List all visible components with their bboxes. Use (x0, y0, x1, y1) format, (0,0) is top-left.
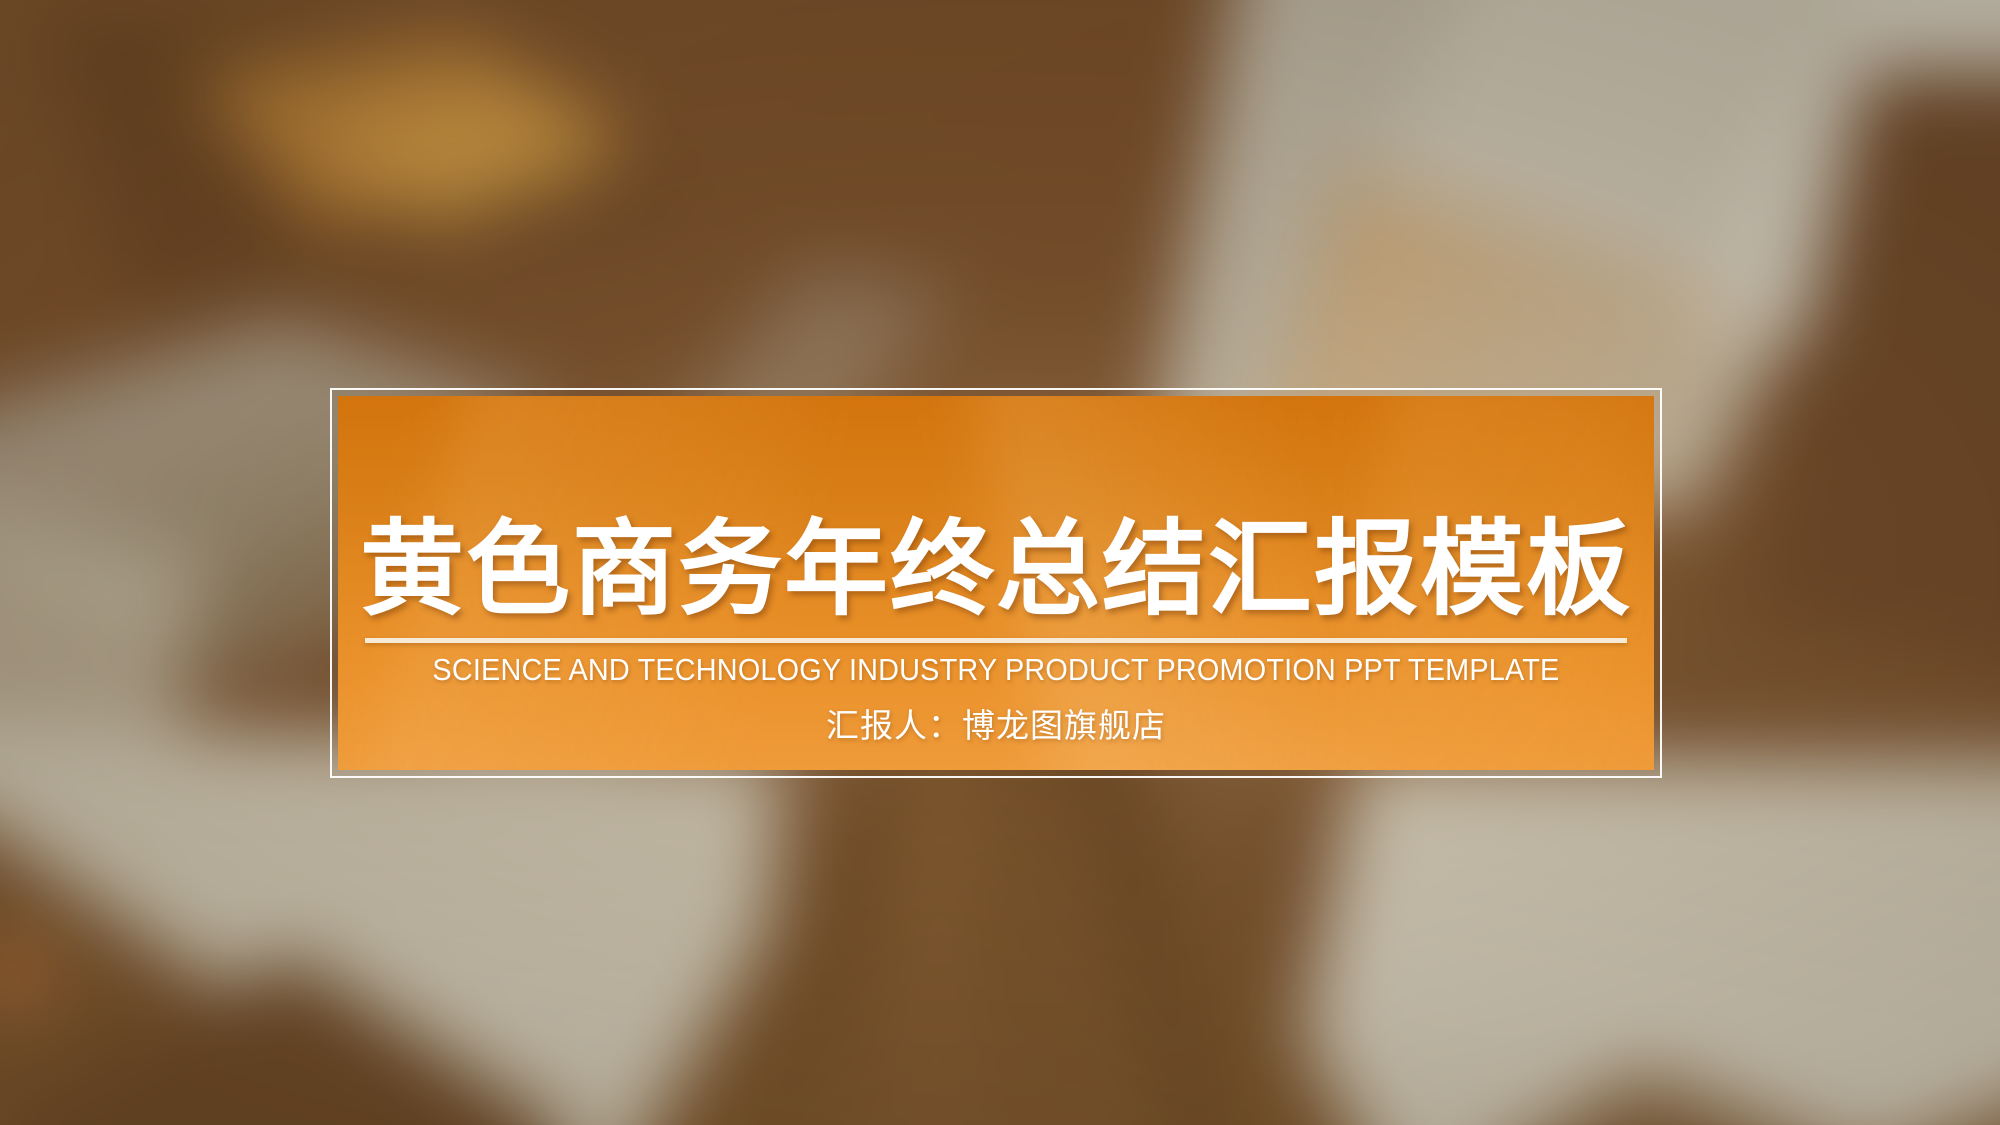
presentation-slide: 黄色商务年终总结汇报模板 SCIENCE AND TECHNOLOGY INDU… (0, 0, 2000, 1125)
title-divider-rule (365, 638, 1627, 643)
title-panel: 黄色商务年终总结汇报模板 SCIENCE AND TECHNOLOGY INDU… (330, 388, 1662, 778)
slide-presenter: 汇报人：博龙图旗舰店 (826, 709, 1166, 742)
title-panel-content: 黄色商务年终总结汇报模板 SCIENCE AND TECHNOLOGY INDU… (338, 396, 1654, 770)
slide-subtitle: SCIENCE AND TECHNOLOGY INDUSTRY PRODUCT … (432, 654, 1559, 685)
slide-title: 黄色商务年终总结汇报模板 (360, 518, 1632, 622)
